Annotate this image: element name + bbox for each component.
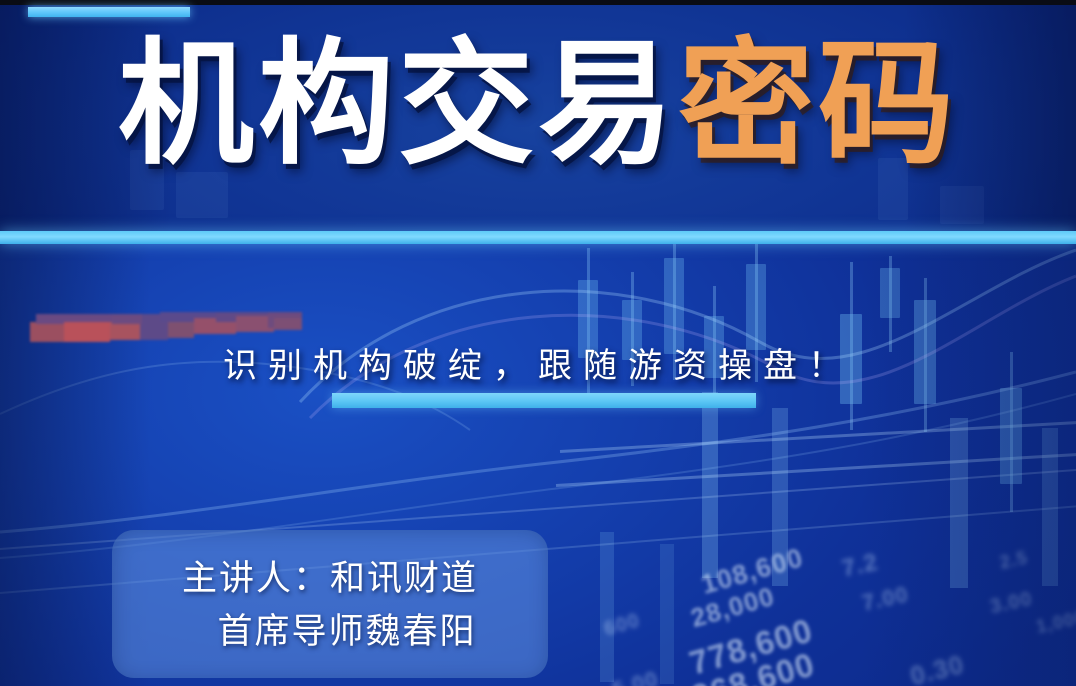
presenter-info-box: 主讲人：和讯财道 首席导师魏春阳 [112, 530, 548, 678]
title-orange-part: 密码 [678, 28, 958, 180]
accent-bar-top [28, 7, 190, 17]
poster-root: 机构交易密码 [0, 0, 1076, 686]
presenter-line-1: 主讲人：和讯财道 [182, 559, 478, 598]
top-border-strip [0, 0, 1076, 5]
subtitle: 识别机构破绽，跟随游资操盘！ [0, 345, 1076, 387]
title-white-part: 机构交易 [118, 28, 678, 180]
subtitle-underline [332, 393, 756, 408]
cyan-divider-line [0, 231, 1076, 244]
presenter-text: 主讲人：和讯财道 首席导师魏春阳 [112, 552, 548, 658]
page-title: 机构交易密码 [0, 24, 1076, 184]
presenter-line-2: 首席导师魏春阳 [112, 605, 548, 658]
mosaic-censored-text [30, 312, 302, 342]
